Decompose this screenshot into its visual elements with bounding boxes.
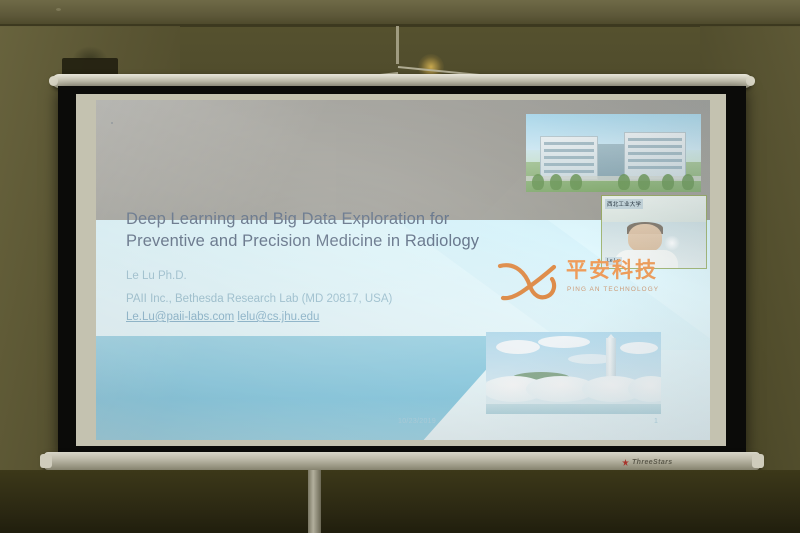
building-left-wing	[540, 136, 598, 180]
slide-author-block: Le Lu Ph.D. PAII Inc., Bethesda Research…	[126, 265, 526, 311]
video-participant-label: 西北工业大学	[605, 199, 643, 209]
building-right-wing	[624, 132, 686, 180]
screen-stand-post	[308, 470, 321, 533]
slide-title: Deep Learning and Big Data Exploration f…	[126, 209, 526, 253]
slide-author: Le Lu Ph.D.	[126, 265, 526, 288]
brand-text: ThreeStars	[632, 459, 673, 466]
email-link-primary[interactable]: Le.Lu@paii-labs.com	[126, 311, 234, 323]
slide-title-line-2: Preventive and Precision Medicine in Rad…	[126, 231, 526, 253]
logo-chinese-name: 平安科技	[566, 260, 658, 281]
presentation-slide: 西北工业大学 Le Lu Deep Learning and Big Data …	[96, 100, 710, 440]
bottom-bar-cap-left	[40, 454, 52, 468]
lower-wall-shadow	[0, 470, 800, 533]
star-icon	[622, 459, 629, 466]
video-light-flare	[664, 236, 680, 250]
screen-hook	[396, 26, 399, 64]
slide-date: 10/23/2019	[398, 418, 436, 425]
participant-face	[628, 224, 662, 252]
slide-affiliation: PAII Inc., Bethesda Research Lab (MD 208…	[126, 288, 526, 311]
photo-office-building	[526, 114, 701, 192]
ceiling	[0, 0, 800, 26]
ceiling-fixture	[56, 8, 61, 11]
slide-email-links: Le.Lu@paii-labs.com lelu@cs.jhu.edu	[126, 311, 319, 323]
logo-english-name: PING AN TECHNOLOGY	[567, 286, 659, 293]
slide-corner-dot	[111, 122, 113, 124]
email-link-secondary[interactable]: lelu@cs.jhu.edu	[237, 311, 319, 323]
slide-title-line-1: Deep Learning and Big Data Exploration f…	[126, 209, 526, 231]
screen-brand-label: ThreeStars	[622, 459, 673, 466]
top-bar-cap-left	[49, 76, 58, 86]
bottom-bar-cap-right	[752, 454, 764, 468]
photo-washington-monument	[486, 332, 661, 414]
room-scene: 西北工业大学 Le Lu Deep Learning and Big Data …	[0, 0, 800, 533]
monument-tidal-basin	[486, 404, 661, 414]
top-bar-cap-right	[746, 76, 755, 86]
pingan-technology-logo: 平安科技 PING AN TECHNOLOGY	[496, 258, 696, 306]
pingan-brand-mark	[496, 258, 562, 304]
slide-page-number: 1	[654, 418, 658, 425]
